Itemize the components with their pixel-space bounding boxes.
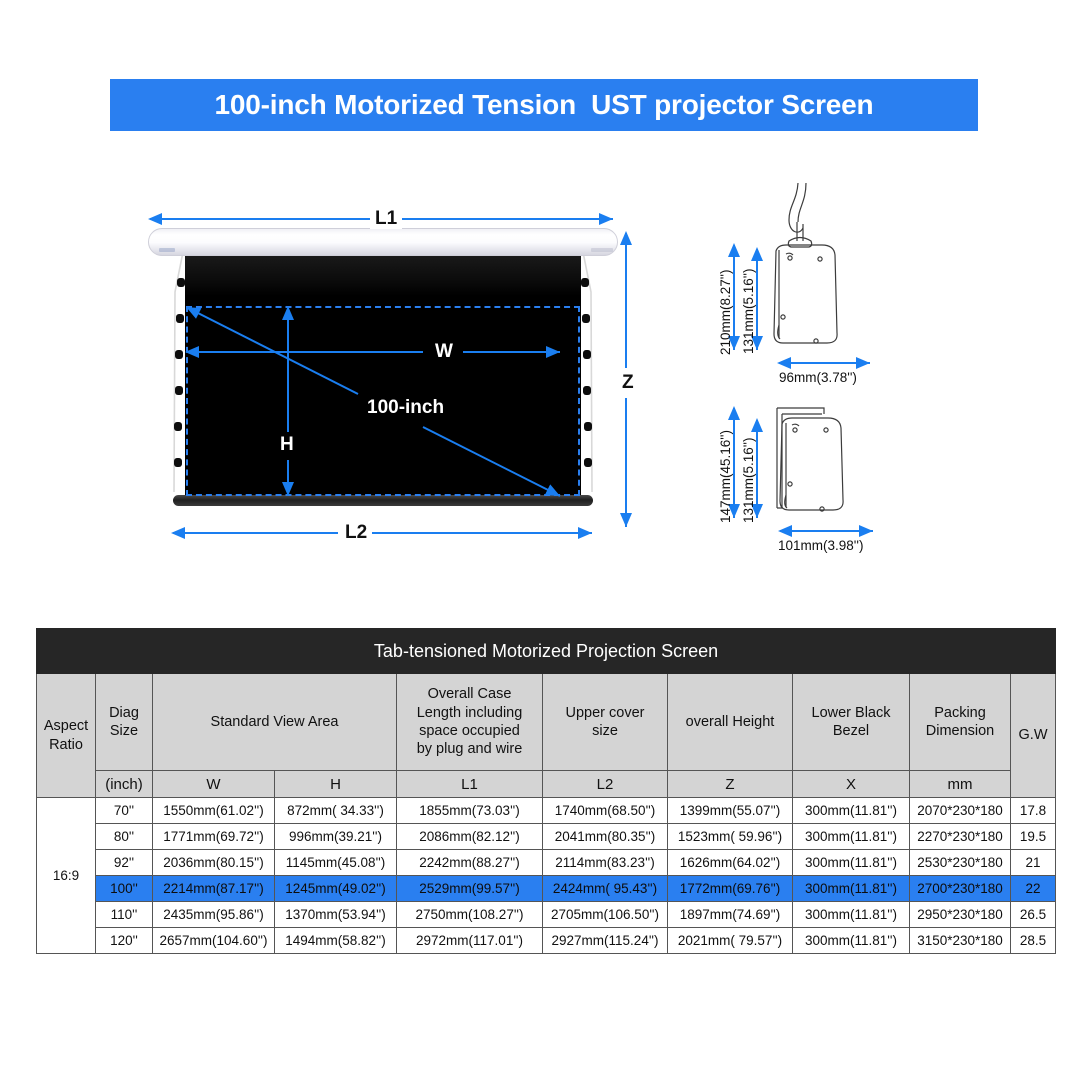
cell-h: 1145mm(45.08'') bbox=[275, 850, 397, 876]
cell-l1: 2972mm(117.01'') bbox=[397, 928, 543, 954]
cell-l2: 2114mm(83.23'') bbox=[543, 850, 668, 876]
cell-packing: 2270*230*180 bbox=[910, 824, 1011, 850]
side-view-bottom-drawing bbox=[777, 408, 843, 511]
specification-table-container: Tab-tensioned Motorized Projection Scree… bbox=[36, 628, 1055, 954]
cell-x: 300mm(11.81'') bbox=[793, 876, 910, 902]
cell-z: 1626mm(64.02'') bbox=[668, 850, 793, 876]
header-upper-cover-size: Upper cover size bbox=[543, 674, 668, 771]
cell-h: 1245mm(49.02'') bbox=[275, 876, 397, 902]
cell-gw: 21 bbox=[1011, 850, 1056, 876]
table-row[interactable]: 80''1771mm(69.72'')996mm(39.21'')2086mm(… bbox=[37, 824, 1056, 850]
cell-x: 300mm(11.81'') bbox=[793, 928, 910, 954]
cell-z: 1399mm(55.07'') bbox=[668, 798, 793, 824]
table-body: 16:970''1550mm(61.02'')872mm( 34.33'')18… bbox=[37, 798, 1056, 954]
cell-diag: 110'' bbox=[96, 902, 153, 928]
side-view-bottom-outer-height-label: 147mm(45.16'') bbox=[718, 405, 733, 523]
unit-h: H bbox=[275, 771, 397, 798]
cell-l1: 2242mm(88.27'') bbox=[397, 850, 543, 876]
cell-packing: 2530*230*180 bbox=[910, 850, 1011, 876]
cell-h: 872mm( 34.33'') bbox=[275, 798, 397, 824]
cell-diag: 70'' bbox=[96, 798, 153, 824]
cell-gw: 26.5 bbox=[1011, 902, 1056, 928]
cell-x: 300mm(11.81'') bbox=[793, 850, 910, 876]
cell-z: 2021mm( 79.57'') bbox=[668, 928, 793, 954]
side-view-top-drawing bbox=[774, 183, 837, 343]
table-row[interactable]: 110''2435mm(95.86'')1370mm(53.94'')2750m… bbox=[37, 902, 1056, 928]
header-overall-case-length: Overall Case Length including space occu… bbox=[397, 674, 543, 771]
cell-aspect-ratio: 16:9 bbox=[37, 798, 96, 954]
header-diag-size: Diag Size bbox=[96, 674, 153, 771]
cell-gw: 22 bbox=[1011, 876, 1056, 902]
cell-w: 2214mm(87.17'') bbox=[153, 876, 275, 902]
cell-diag: 120'' bbox=[96, 928, 153, 954]
header-aspect-ratio: Aspect Ratio bbox=[37, 674, 96, 798]
cell-z: 1523mm( 59.96'') bbox=[668, 824, 793, 850]
header-packing-dimension: Packing Dimension bbox=[910, 674, 1011, 771]
cell-packing: 2700*230*180 bbox=[910, 876, 1011, 902]
cell-packing: 2070*230*180 bbox=[910, 798, 1011, 824]
table-row[interactable]: 92''2036mm(80.15'')1145mm(45.08'')2242mm… bbox=[37, 850, 1056, 876]
cell-x: 300mm(11.81'') bbox=[793, 824, 910, 850]
table-title-row: Tab-tensioned Motorized Projection Scree… bbox=[37, 629, 1056, 674]
table-header-row-main: Aspect Ratio Diag Size Standard View Are… bbox=[37, 674, 1056, 771]
unit-l2: L2 bbox=[543, 771, 668, 798]
cell-h: 1494mm(58.82'') bbox=[275, 928, 397, 954]
unit-diag: (inch) bbox=[96, 771, 153, 798]
table-title: Tab-tensioned Motorized Projection Scree… bbox=[37, 629, 1056, 674]
cell-w: 2036mm(80.15'') bbox=[153, 850, 275, 876]
cell-l2: 2424mm( 95.43'') bbox=[543, 876, 668, 902]
table-row[interactable]: 120''2657mm(104.60'')1494mm(58.82'')2972… bbox=[37, 928, 1056, 954]
unit-x: X bbox=[793, 771, 910, 798]
header-standard-view-area: Standard View Area bbox=[153, 674, 397, 771]
cell-gw: 28.5 bbox=[1011, 928, 1056, 954]
unit-l1: L1 bbox=[397, 771, 543, 798]
dimension-arrows-overlay bbox=[0, 0, 1090, 610]
dimension-label-diagonal: 100-inch bbox=[362, 398, 449, 418]
unit-w: W bbox=[153, 771, 275, 798]
cell-l1: 2086mm(82.12'') bbox=[397, 824, 543, 850]
cell-l2: 2041mm(80.35'') bbox=[543, 824, 668, 850]
unit-packing: mm bbox=[910, 771, 1011, 798]
cell-l1: 2750mm(108.27'') bbox=[397, 902, 543, 928]
cell-gw: 19.5 bbox=[1011, 824, 1056, 850]
cell-x: 300mm(11.81'') bbox=[793, 902, 910, 928]
table-header-row-units: (inch) W H L1 L2 Z X mm bbox=[37, 771, 1056, 798]
side-view-top-inner-height-label: 131mm(5.16'') bbox=[741, 249, 756, 354]
side-view-top-width-label: 96mm(3.78'') bbox=[779, 370, 857, 385]
cell-gw: 17.8 bbox=[1011, 798, 1056, 824]
dimension-label-w: W bbox=[430, 342, 458, 362]
cell-l2: 2705mm(106.50'') bbox=[543, 902, 668, 928]
cell-w: 1550mm(61.02'') bbox=[153, 798, 275, 824]
cell-h: 1370mm(53.94'') bbox=[275, 902, 397, 928]
cell-packing: 2950*230*180 bbox=[910, 902, 1011, 928]
unit-z: Z bbox=[668, 771, 793, 798]
cell-diag: 100'' bbox=[96, 876, 153, 902]
cell-h: 996mm(39.21'') bbox=[275, 824, 397, 850]
cell-w: 1771mm(69.72'') bbox=[153, 824, 275, 850]
dimension-label-z: Z bbox=[617, 373, 639, 393]
cell-diag: 92'' bbox=[96, 850, 153, 876]
cell-z: 1897mm(74.69'') bbox=[668, 902, 793, 928]
side-view-bottom-width-label: 101mm(3.98'') bbox=[778, 538, 863, 553]
side-view-bottom-inner-height-label: 131mm(5.16'') bbox=[741, 418, 756, 523]
dimension-label-l1: L1 bbox=[370, 209, 402, 229]
header-lower-black-bezel: Lower Black Bezel bbox=[793, 674, 910, 771]
side-view-top-outer-height-label: 210mm(8.27'') bbox=[718, 240, 733, 355]
cell-packing: 3150*230*180 bbox=[910, 928, 1011, 954]
cell-l1: 2529mm(99.57'') bbox=[397, 876, 543, 902]
table-row[interactable]: 100''2214mm(87.17'')1245mm(49.02'')2529m… bbox=[37, 876, 1056, 902]
specification-table: Tab-tensioned Motorized Projection Scree… bbox=[36, 628, 1056, 954]
cell-x: 300mm(11.81'') bbox=[793, 798, 910, 824]
table-row[interactable]: 16:970''1550mm(61.02'')872mm( 34.33'')18… bbox=[37, 798, 1056, 824]
cell-l2: 2927mm(115.24'') bbox=[543, 928, 668, 954]
dimension-label-h: H bbox=[275, 435, 299, 455]
cell-diag: 80'' bbox=[96, 824, 153, 850]
cell-l1: 1855mm(73.03'') bbox=[397, 798, 543, 824]
cell-w: 2657mm(104.60'') bbox=[153, 928, 275, 954]
product-dimension-diagram: L1 L2 Z W H 100-inch 210mm(8.27'') 131mm… bbox=[0, 0, 1090, 610]
cell-w: 2435mm(95.86'') bbox=[153, 902, 275, 928]
header-overall-height: overall Height bbox=[668, 674, 793, 771]
cell-l2: 1740mm(68.50'') bbox=[543, 798, 668, 824]
header-gross-weight: G.W bbox=[1011, 674, 1056, 798]
dimension-label-l2: L2 bbox=[340, 523, 372, 543]
cell-z: 1772mm(69.76'') bbox=[668, 876, 793, 902]
